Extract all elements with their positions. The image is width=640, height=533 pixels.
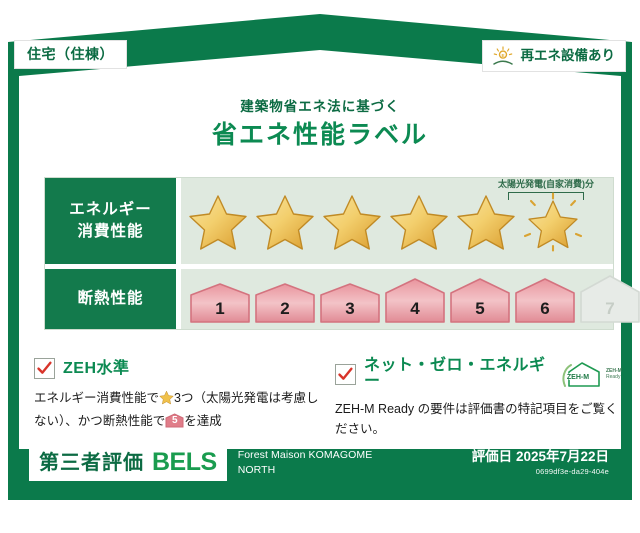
grade-number: 6 <box>514 300 576 317</box>
star-icon <box>187 192 249 252</box>
project-name: Forest Maison KOMAGOME NORTH <box>238 448 373 476</box>
star-icon <box>455 192 517 252</box>
zeh-criteria-title: ZEH水準 <box>63 361 130 377</box>
zeh-m-logo: ZEH-M ZEH-M Ready <box>561 360 622 388</box>
grade-number: 3 <box>319 300 381 317</box>
net-zero-criteria-block: ネット・ゼロ・エネルギー ZEH-M ZEH-M Ready <box>335 358 622 440</box>
insulation-performance-body: 1 2 3 4 <box>181 269 613 329</box>
project-name-line2: NORTH <box>238 463 373 477</box>
zeh-criteria-header: ZEH水準 <box>34 358 321 379</box>
grade-number: 5 <box>449 300 511 317</box>
third-party-evaluation-label: 第三者評価 <box>39 453 144 473</box>
insulation-grade-scale: 1 2 3 4 <box>189 274 640 324</box>
zeh-criteria-block: ZEH水準 エネルギー消費性能で3つ（太陽光発電は考慮しない）、かつ断熱性能で5… <box>34 358 321 440</box>
energy-star-rating <box>187 192 584 252</box>
bels-logo-text: BELS <box>152 450 217 475</box>
energy-performance-body: 太陽光発電(自家消費)分 <box>181 178 613 264</box>
grade-number: 4 <box>384 300 446 317</box>
energy-label-card: 住宅（住棟） E 再エネ設備あり <box>8 14 632 500</box>
label-footer: 第三者評価 BELS Forest Maison KOMAGOME NORTH … <box>19 436 621 489</box>
insulation-grade-house: 6 <box>514 277 576 324</box>
insulation-grade-house: 4 <box>384 277 446 324</box>
grade-number: 2 <box>254 300 316 317</box>
star-icon <box>388 192 450 252</box>
performance-table: エネルギー 消費性能 太陽光発電(自家消費)分 <box>44 177 614 330</box>
star-icon <box>321 192 383 252</box>
title-subtitle: 建築物省エネ法に基づく <box>8 100 632 114</box>
grade-number: 1 <box>189 300 251 317</box>
zeh-criteria-text: エネルギー消費性能で3つ（太陽光発電は考慮しない）、かつ断熱性能で5を達成 <box>34 388 321 432</box>
bels-badge: 第三者評価 BELS <box>29 444 227 481</box>
insulation-grade-house: 2 <box>254 282 316 324</box>
project-name-line1: Forest Maison KOMAGOME <box>238 448 373 462</box>
sun-icon: E <box>491 46 515 66</box>
net-zero-criteria-header: ネット・ゼロ・エネルギー ZEH-M ZEH-M Ready <box>335 358 622 390</box>
star-icon-solar <box>522 192 584 252</box>
evaluation-id: 0699df3e-da29-404e <box>472 468 609 476</box>
house-type-label: 住宅（住棟） <box>27 46 114 62</box>
energy-performance-row: エネルギー 消費性能 太陽光発電(自家消費)分 <box>45 178 613 264</box>
solar-note-text: 太陽光発電(自家消費)分 <box>487 180 605 189</box>
title-main: 省エネ性能ラベル <box>8 123 632 148</box>
net-zero-criteria-text: ZEH-M Ready の要件は評価書の特記項目をご覧ください。 <box>335 399 622 440</box>
energy-performance-label: エネルギー 消費性能 <box>45 178 181 264</box>
insulation-grade-house: 1 <box>189 282 251 324</box>
svg-text:Ready: Ready <box>606 374 621 380</box>
insulation-grade-house: 3 <box>319 282 381 324</box>
criteria-section: ZEH水準 エネルギー消費性能で3つ（太陽光発電は考慮しない）、かつ断熱性能で5… <box>34 358 622 440</box>
net-zero-criteria-title: ネット・ゼロ・エネルギー <box>364 358 553 390</box>
house-type-tab: 住宅（住棟） <box>14 40 127 69</box>
svg-text:ZEH-M: ZEH-M <box>567 374 589 381</box>
grade-number: 7 <box>579 300 640 317</box>
star-icon-inline <box>159 390 174 411</box>
check-icon <box>34 358 55 379</box>
label-title-block: 建築物省エネ法に基づく 省エネ性能ラベル <box>8 100 632 148</box>
evaluation-date: 評価日 2025年7月22日 <box>472 450 609 464</box>
insulation-performance-label: 断熱性能 <box>45 269 181 329</box>
renewable-label: 再エネ設備あり <box>521 49 616 63</box>
bels-energy-label-page: 住宅（住棟） E 再エネ設備あり <box>0 0 640 533</box>
evaluation-date-block: 評価日 2025年7月22日 0699df3e-da29-404e <box>472 450 609 476</box>
svg-text:E: E <box>501 53 504 58</box>
insulation-grade-house: 5 <box>449 277 511 324</box>
grade-badge-inline: 5 <box>165 413 184 428</box>
star-icon <box>254 192 316 252</box>
renewable-equipment-badge: E 再エネ設備あり <box>482 40 627 72</box>
insulation-grade-house-inactive: 7 <box>579 274 640 324</box>
insulation-performance-row: 断熱性能 1 2 3 <box>45 264 613 329</box>
check-icon <box>335 364 356 385</box>
